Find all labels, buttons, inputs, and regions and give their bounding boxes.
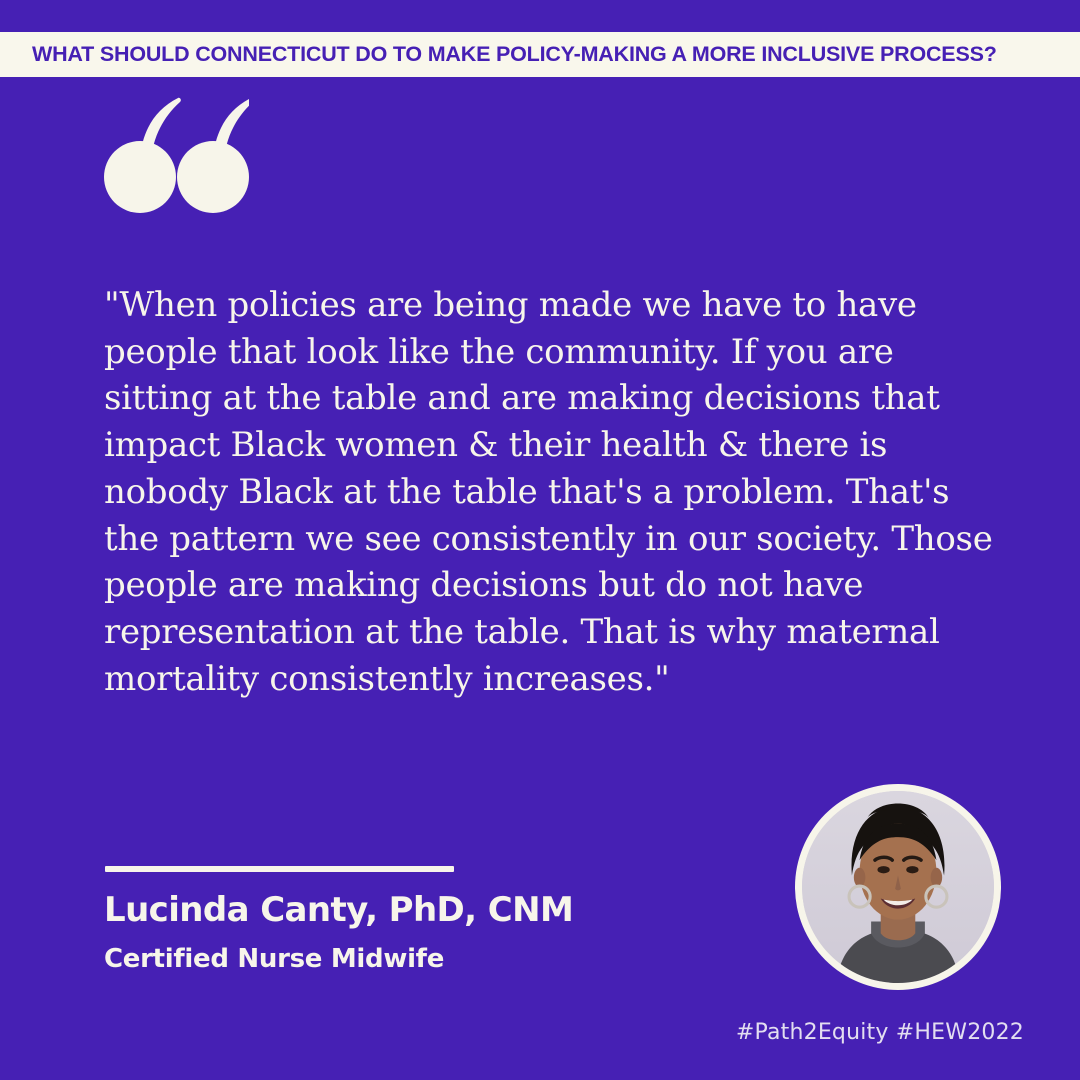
speaker-name: Lucinda Canty, PhD, CNM xyxy=(104,890,573,930)
avatar xyxy=(795,784,1001,990)
speaker-role: Certified Nurse Midwife xyxy=(104,944,444,974)
hashtags-text: #Path2Equity #HEW2022 xyxy=(736,1020,1024,1045)
quote-social-card: WHAT SHOULD CONNECTICUT DO TO MAKE POLIC… xyxy=(0,0,1080,1080)
quote-body-text: "When policies are being made we have to… xyxy=(104,282,1004,702)
opening-quotation-mark-icon xyxy=(104,96,249,216)
attribution-divider xyxy=(105,866,454,872)
headline-banner: WHAT SHOULD CONNECTICUT DO TO MAKE POLIC… xyxy=(0,32,1080,77)
avatar-photo xyxy=(802,791,994,983)
banner-headline-text: WHAT SHOULD CONNECTICUT DO TO MAKE POLIC… xyxy=(32,42,997,67)
